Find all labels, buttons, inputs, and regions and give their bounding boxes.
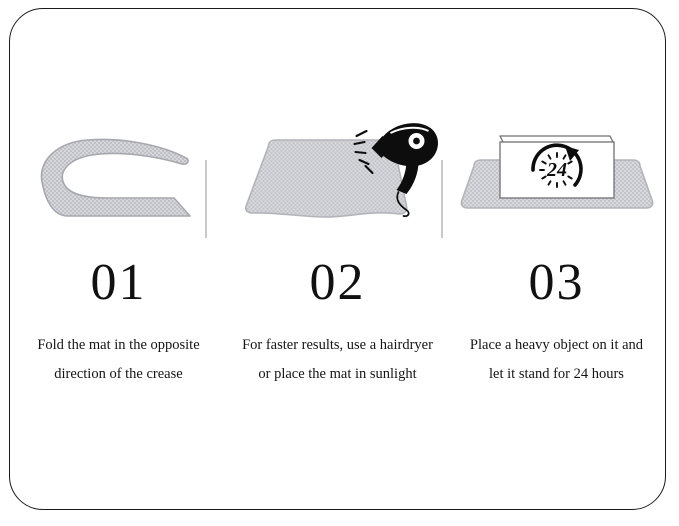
step-caption-02-line-1: For faster results, use a hairdryer	[239, 331, 436, 359]
step-number-02: 02	[310, 257, 366, 309]
step-caption-02: For faster results, use a hairdryer or p…	[239, 331, 436, 388]
step-caption-03-line-2: let it stand for 24 hours	[458, 360, 655, 388]
step-panel-01: 01 Fold the mat in the opposite directio…	[9, 8, 228, 388]
step-number-03: 03	[529, 257, 585, 309]
timer-24-label: 24	[546, 159, 567, 181]
step-caption-02-line-2: or place the mat in sunlight	[239, 360, 436, 388]
step-02-artwork	[228, 120, 447, 243]
panel-divider-1	[205, 160, 207, 238]
step-caption-03: Place a heavy object on it and let it st…	[458, 331, 655, 388]
box-on-mat-24h-icon: 24	[452, 120, 662, 240]
step-caption-01-line-2: direction of the crease	[20, 360, 217, 388]
steps-row: 01 Fold the mat in the opposite directio…	[9, 8, 666, 388]
step-panel-03: 24 03 Place a heavy object on it and let…	[447, 8, 666, 388]
panel-divider-2	[441, 160, 443, 238]
step-panel-02: 02 For faster results, use a hairdryer o…	[228, 8, 447, 388]
mat-with-hairdryer-icon	[230, 120, 445, 240]
step-caption-03-line-1: Place a heavy object on it and	[458, 331, 655, 359]
step-03-artwork: 24	[447, 120, 666, 243]
step-caption-01: Fold the mat in the opposite direction o…	[20, 331, 217, 388]
step-01-artwork	[9, 120, 228, 243]
step-number-01: 01	[91, 257, 147, 309]
step-caption-01-line-1: Fold the mat in the opposite	[20, 331, 217, 359]
folded-mat-icon	[24, 120, 214, 240]
infographic-canvas: 01 Fold the mat in the opposite directio…	[0, 0, 679, 526]
